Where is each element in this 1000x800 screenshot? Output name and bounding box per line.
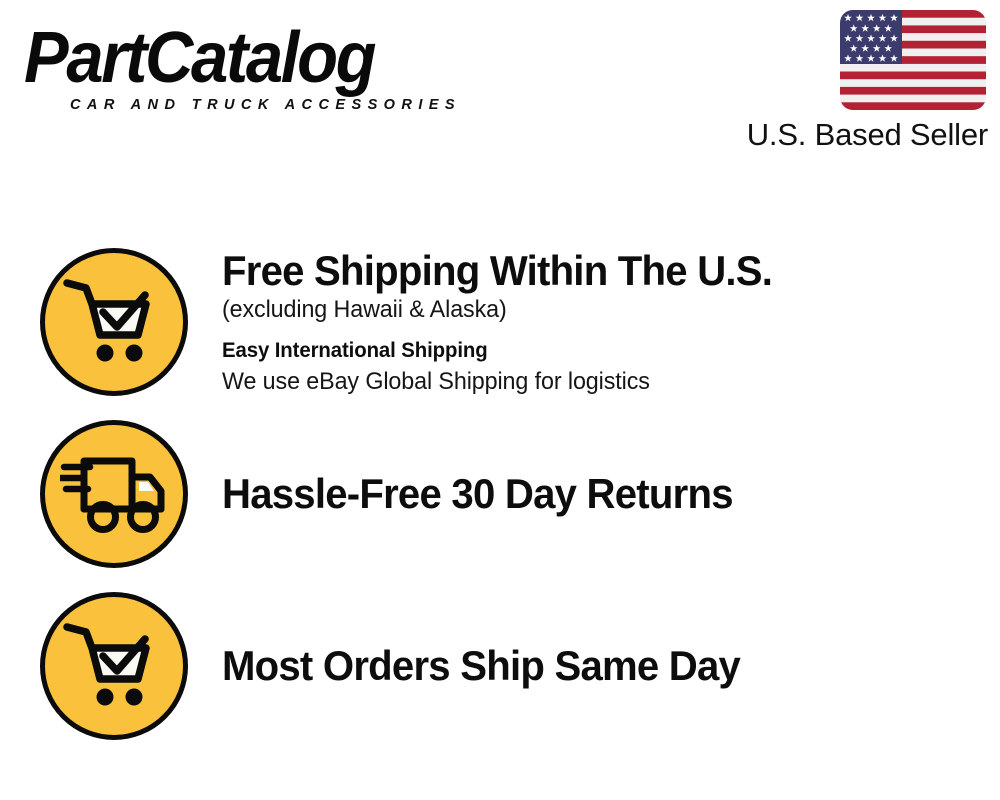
brand-wordmark: PartCatalog	[24, 22, 461, 94]
feature-row: Hassle-Free 30 Day Returns	[40, 418, 980, 570]
feature-text-block: Hassle-Free 30 Day Returns	[188, 471, 980, 517]
feature-subline: (excluding Hawaii & Alaska)	[222, 294, 957, 326]
feature-headline: Most Orders Ship Same Day	[222, 643, 946, 689]
shopping-cart-check-icon	[40, 248, 188, 396]
feature-text-block: Most Orders Ship Same Day	[188, 643, 980, 689]
brand-tagline: CAR AND TRUCK ACCESSORIES	[70, 96, 481, 113]
feature-row: Free Shipping Within The U.S. (excluding…	[40, 246, 980, 398]
us-based-seller-label: U.S. Based Seller	[747, 118, 988, 152]
feature-text-block: Free Shipping Within The U.S. (excluding…	[188, 248, 980, 397]
us-flag-icon	[840, 10, 986, 110]
feature-row: Most Orders Ship Same Day	[40, 590, 980, 742]
delivery-truck-icon	[40, 420, 188, 568]
shopping-cart-check-icon	[40, 592, 188, 740]
brand-logo[interactable]: PartCatalog CAR AND TRUCK ACCESSORIES	[24, 22, 494, 122]
feature-subheading-detail: We use eBay Global Shipping for logistic…	[222, 366, 957, 397]
feature-headline: Hassle-Free 30 Day Returns	[222, 471, 946, 517]
feature-headline: Free Shipping Within The U.S.	[222, 248, 946, 294]
feature-subheading: Easy International Shipping	[222, 336, 957, 366]
